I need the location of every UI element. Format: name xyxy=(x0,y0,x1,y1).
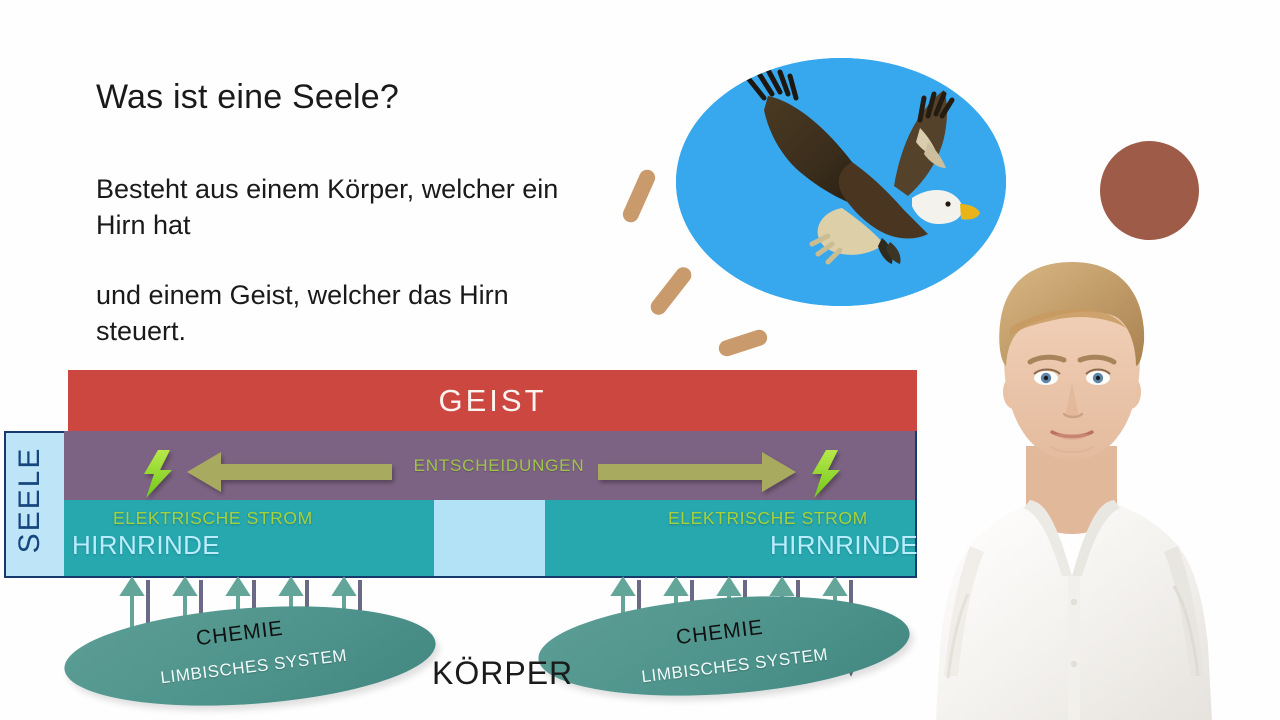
tan-dash-icon xyxy=(620,167,657,225)
geist-label: GEIST xyxy=(68,370,917,432)
tan-dash-icon xyxy=(717,328,769,359)
presenter-illustration xyxy=(874,246,1280,720)
page-title: Was ist eine Seele? xyxy=(96,78,399,117)
brown-circle-icon xyxy=(1100,141,1199,240)
seele-label: SEELE xyxy=(13,440,47,560)
body-paragraph-2: und einem Geist, welcher das Hirn steuer… xyxy=(96,278,606,350)
hirnrinde-label-left: HIRNRINDE xyxy=(72,530,220,561)
presenter-photo xyxy=(874,246,1280,720)
body-paragraph-1: Besteht aus einem Körper, welcher ein Hi… xyxy=(96,172,606,244)
limbic-ellipse-left xyxy=(61,595,439,717)
elektrische-strom-label-left: ELEKTRISCHE STROM xyxy=(113,508,313,529)
limbic-ellipse-right xyxy=(535,585,913,707)
koerper-label: KÖRPER xyxy=(432,655,573,692)
slide-canvas: Was ist eine Seele? Besteht aus einem Kö… xyxy=(0,0,1280,720)
elektrische-strom-label-right: ELEKTRISCHE STROM xyxy=(668,508,868,529)
cortex-gap xyxy=(434,500,545,576)
entscheidungen-label: ENTSCHEIDUNGEN xyxy=(398,456,600,476)
geist-band: GEIST xyxy=(68,370,917,432)
